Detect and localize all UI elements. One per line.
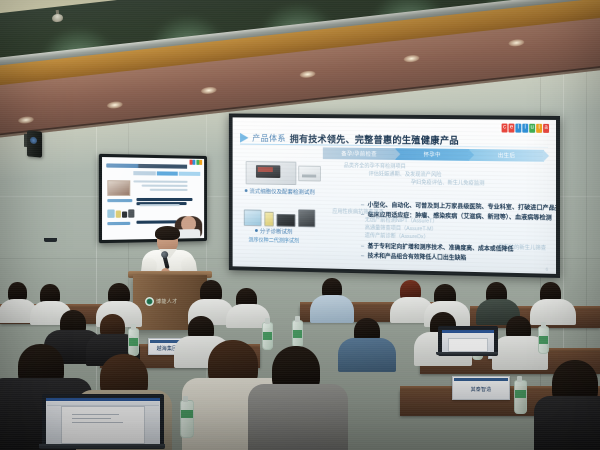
- device-photo: [298, 209, 315, 227]
- document-page: [62, 407, 144, 443]
- reagent-kit-photo: [298, 166, 321, 182]
- logo-letter: u: [529, 124, 535, 133]
- audience-body: [530, 299, 576, 325]
- wall-speaker-icon: [27, 130, 42, 157]
- side-device-label: [107, 199, 132, 202]
- document-page: [449, 339, 486, 351]
- side-device-photo-group: [107, 207, 134, 218]
- device-photo: [264, 212, 273, 227]
- slide-tag: 产品体系: [252, 132, 286, 144]
- audience-body: [338, 338, 396, 372]
- logo-letter: c: [502, 124, 508, 133]
- device-photo: [244, 209, 262, 226]
- downlight: [200, 86, 217, 95]
- laptop-display-content: [46, 398, 160, 444]
- molecular-diagnostics-photos: [244, 208, 315, 227]
- water-bottle: [292, 320, 303, 348]
- device-label-text: 流式细胞仪及配套检测试剂: [249, 189, 314, 196]
- flow-cytometer-photo: [246, 161, 297, 185]
- stage-chip: 出生后: [469, 149, 544, 162]
- document-text-line: [72, 422, 123, 423]
- document-text-line: [72, 414, 120, 415]
- presenter-hair: [155, 226, 180, 240]
- conference-room-photo: c e l l u l a 产品体系 拥有技术领先、完整普惠的生殖健康产品 备孕…: [0, 0, 600, 450]
- laptop-screen: [42, 394, 164, 448]
- side-device-label: [107, 222, 130, 225]
- downlight: [18, 116, 35, 125]
- laptop-base: [436, 352, 498, 355]
- audience-laptop[interactable]: [42, 394, 164, 450]
- audience-body-foreground: [534, 396, 600, 450]
- monitor-stand: [44, 238, 57, 242]
- side-bullet-line: [136, 220, 176, 223]
- section-one-faint-text: 品类齐全的孕不育检测项目 评估妊娠通期、及发现流产风险 孕妇免疫评估、新生儿免疫…: [344, 162, 546, 189]
- laptop-display-content: [442, 330, 494, 352]
- slide-page-number: 6: [546, 267, 549, 272]
- bullet-dot-icon: [245, 189, 248, 192]
- arrow-icon: [240, 133, 248, 143]
- logo-letter: a: [543, 124, 549, 133]
- stage-chip: [156, 171, 178, 175]
- device-label-text: 分子诊断试剂: [260, 229, 293, 235]
- app-titlebar: [442, 330, 494, 333]
- device-photo: [115, 210, 120, 217]
- downlight: [508, 38, 525, 47]
- tent-card-bar: [454, 378, 508, 381]
- stage-chip: 备孕/孕前检查: [323, 147, 396, 160]
- water-bottle: [538, 326, 549, 354]
- device-photo: [277, 214, 296, 227]
- water-bottle: [180, 400, 194, 438]
- name-tent-card: 其泰智造: [452, 376, 510, 400]
- stage-chip: [179, 172, 200, 176]
- logo-letter: l: [522, 124, 528, 133]
- logo-letter: [199, 160, 202, 165]
- water-bottle: [262, 322, 273, 350]
- device-photo: [107, 209, 114, 217]
- document-text-line: [72, 418, 111, 419]
- water-bottle: [128, 328, 139, 356]
- app-titlebar: [46, 398, 160, 401]
- main-projection-screen[interactable]: c e l l u l a 产品体系 拥有技术领先、完整普惠的生殖健康产品 备孕…: [229, 113, 560, 278]
- stage-chip: [133, 171, 155, 175]
- cellula-logo-small: [189, 160, 202, 165]
- downlight: [107, 101, 124, 110]
- side-slide-title: [106, 163, 190, 168]
- laptop-base: [39, 444, 165, 449]
- stage-timeline: 备孕/孕前检查 怀孕中 出生后: [323, 147, 544, 161]
- side-screen-glare: [102, 157, 204, 159]
- logo-letter: l: [536, 124, 542, 133]
- audience-body: [310, 295, 354, 323]
- section-two-device-label: 分子诊断试剂 测序仪种二代测序试剂: [248, 226, 299, 245]
- bullet-dot-icon: [255, 229, 258, 232]
- logo-letter: l: [515, 124, 521, 133]
- downlight: [403, 54, 420, 63]
- side-text-line: [142, 185, 188, 187]
- water-bottle: [514, 380, 527, 414]
- tent-card-text: 其泰智造: [471, 386, 492, 393]
- logo-letter: [192, 160, 195, 165]
- faint-line: 孕妇免疫评估、新生儿免疫监测: [411, 179, 546, 189]
- side-text-line: [150, 189, 188, 191]
- side-stage-timeline: [133, 171, 200, 176]
- stage-chip: 怀孕中: [395, 148, 469, 161]
- logo-letter: [189, 160, 192, 165]
- cellula-logo: c e l l u l a: [500, 122, 551, 133]
- side-text-line: [140, 204, 180, 206]
- audience-area: 越海集团 领域科技 其泰智造: [0, 282, 600, 450]
- logo-letter: [196, 160, 199, 165]
- section-one-device-label: 流式细胞仪及配套检测试剂: [245, 186, 315, 196]
- side-device-photo: [107, 180, 130, 196]
- device-photo: [128, 209, 134, 217]
- audience-body-foreground: [248, 384, 348, 450]
- side-text-line: [133, 180, 187, 182]
- device-photo: [121, 211, 127, 217]
- side-bullet-line: [136, 202, 186, 205]
- app-toolbar: [47, 402, 159, 406]
- audience-laptop[interactable]: [438, 326, 498, 356]
- slide-surface: c e l l u l a 产品体系 拥有技术领先、完整普惠的生殖健康产品 备孕…: [233, 117, 556, 274]
- side-bullet-line: [136, 198, 192, 201]
- device-sublabel-text: 测序仪种二代测序试剂: [248, 236, 299, 245]
- logo-letter: e: [508, 124, 514, 133]
- downlight: [299, 70, 316, 79]
